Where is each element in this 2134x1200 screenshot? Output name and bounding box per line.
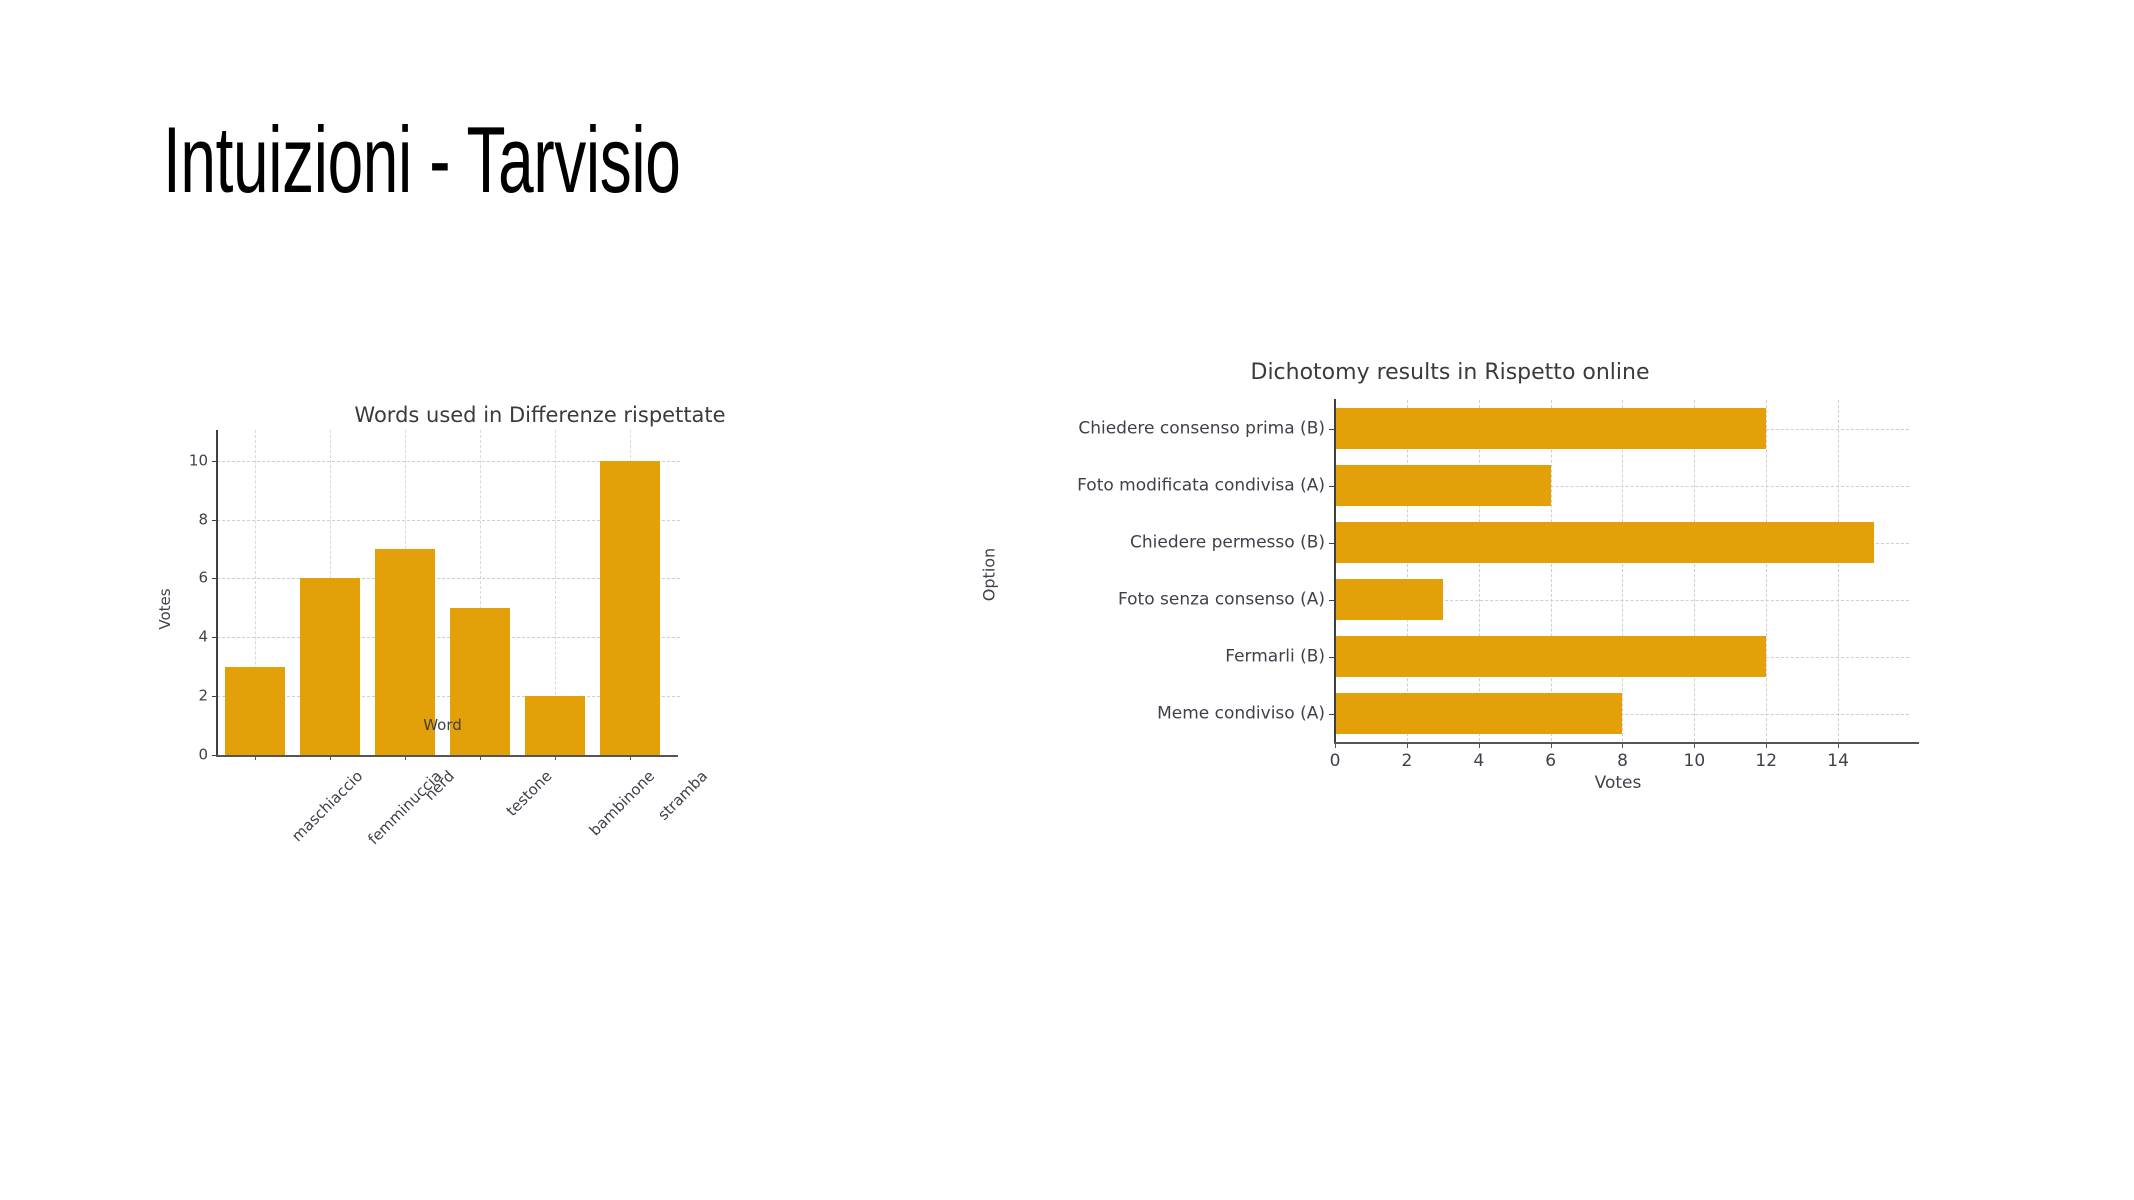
x-tick-label: 8 [1617, 751, 1628, 771]
x-axis-spine [1334, 742, 1919, 744]
y-tick-label: Chiedere consenso prima (B) [1078, 418, 1325, 438]
x-tick-label: 10 [1684, 751, 1706, 771]
plot-area-dichotomy: 02468101214Chiedere consenso prima (B)Fo… [1335, 400, 1901, 742]
y-tick-label: 0 [198, 746, 208, 764]
y-tick-label: 2 [198, 687, 208, 705]
y-tick-label: Meme condiviso (A) [1157, 703, 1325, 723]
x-tick-mark [330, 755, 331, 760]
bar [600, 461, 660, 755]
x-axis-label-votes: Votes [1335, 773, 1901, 793]
x-tick-mark [255, 755, 256, 760]
chart-dichotomy-results: Dichotomy results in Rispetto online Opt… [980, 355, 1960, 915]
bar [1335, 408, 1766, 449]
gridline-vertical [1838, 400, 1839, 746]
x-axis-label-word: Word [217, 716, 668, 734]
bar [1335, 636, 1766, 677]
y-axis-label-votes: Votes [156, 588, 174, 629]
x-tick-label: stramba [655, 767, 712, 824]
plot-area-words-used: 0246810maschiacciofemminuccianerdtestone… [217, 446, 668, 755]
bar [1335, 693, 1622, 734]
bar [225, 667, 285, 755]
x-tick-label: 4 [1473, 751, 1484, 771]
y-tick-label: Foto modificata condivisa (A) [1077, 475, 1325, 495]
x-tick-mark [480, 755, 481, 760]
chart-title-dichotomy: Dichotomy results in Rispetto online [1040, 360, 1860, 385]
bar [1335, 579, 1443, 620]
x-tick-label: bambinone [586, 767, 658, 839]
x-tick-mark [555, 755, 556, 760]
y-tick-label: 6 [198, 569, 208, 587]
x-tick-label: testone [503, 767, 556, 820]
y-axis-spine [1334, 399, 1336, 742]
y-tick-label: Fermarli (B) [1225, 646, 1325, 666]
x-tick-label: 14 [1827, 751, 1849, 771]
gridline-vertical [1766, 400, 1767, 746]
x-tick-label: 0 [1330, 751, 1341, 771]
y-tick-label: 4 [198, 628, 208, 646]
x-tick-label: maschiaccio [288, 767, 366, 845]
y-axis-spine [216, 430, 218, 755]
bar [1335, 522, 1874, 563]
gridline-vertical [1622, 400, 1623, 746]
page-title: Intuizioni - Tarvisio [163, 108, 680, 211]
y-tick-label: 10 [189, 451, 208, 469]
y-tick-label: Chiedere permesso (B) [1130, 532, 1325, 552]
gridline-vertical [1694, 400, 1695, 746]
y-tick-label: Foto senza consenso (A) [1118, 589, 1325, 609]
x-tick-mark [630, 755, 631, 760]
chart-words-used: Words used in Differenze rispettate Vote… [160, 400, 940, 880]
y-axis-label-option: Option [980, 548, 999, 601]
x-tick-label: 12 [1755, 751, 1777, 771]
x-tick-label: 2 [1401, 751, 1412, 771]
x-tick-label: 6 [1545, 751, 1556, 771]
chart-title-words-used: Words used in Differenze rispettate [160, 403, 920, 427]
y-tick-label: 8 [198, 510, 208, 528]
x-axis-spine [216, 755, 678, 757]
bar [1335, 465, 1551, 506]
x-tick-mark [405, 755, 406, 760]
